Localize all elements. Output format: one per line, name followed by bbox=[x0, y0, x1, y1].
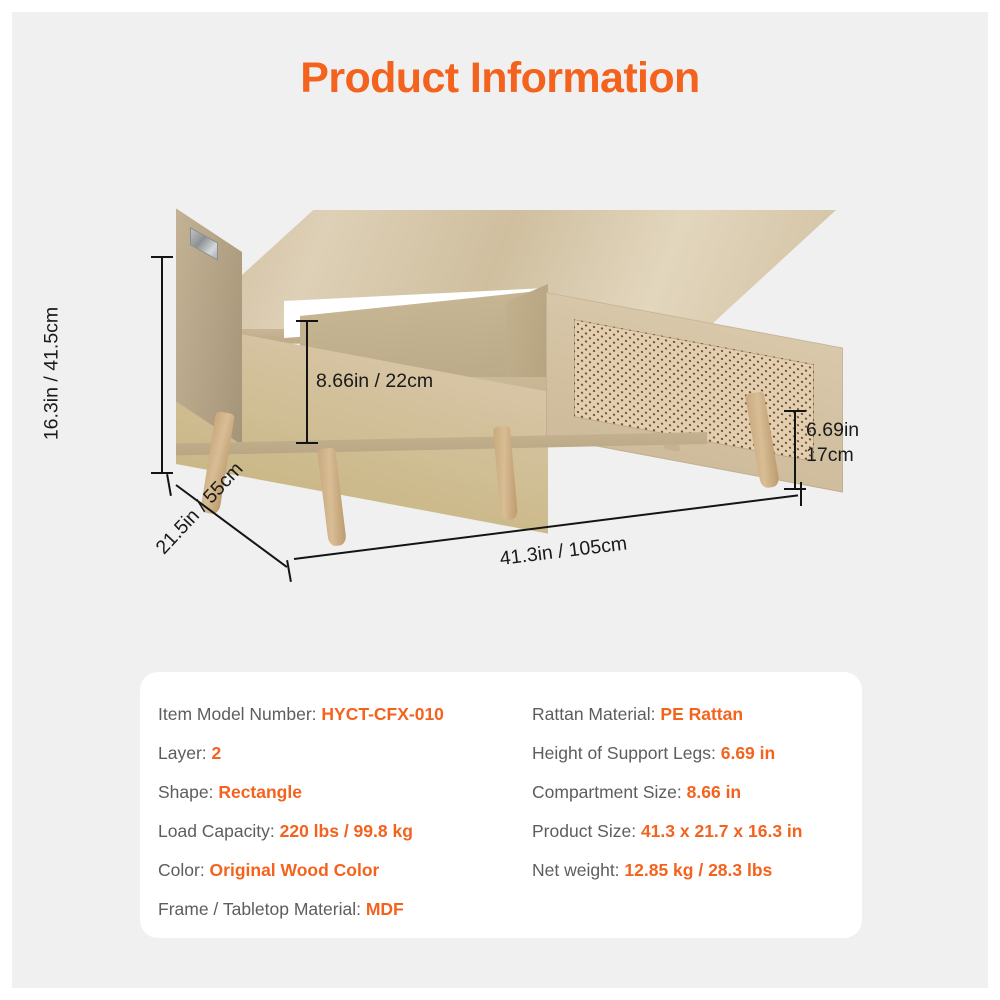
spec-value: 12.85 kg / 28.3 lbs bbox=[624, 860, 772, 880]
product-information-page: Product Information 16.3in / 41.5cm 8.66… bbox=[0, 0, 1000, 1000]
dimension-label-compartment-height: 8.66in / 22cm bbox=[316, 370, 433, 393]
spec-row: Load Capacity: 220 lbs / 99.8 kg bbox=[158, 811, 538, 850]
spec-value: 220 lbs / 99.8 kg bbox=[280, 821, 413, 841]
dimension-label-leg-height-cm: 17cm bbox=[806, 444, 854, 467]
dimension-line-compartment-height bbox=[306, 320, 308, 444]
spec-row: Shape: Rectangle bbox=[158, 772, 538, 811]
spec-value: 8.66 in bbox=[687, 782, 741, 802]
spec-value: 6.69 in bbox=[721, 743, 775, 763]
dimension-line-overall-height bbox=[161, 256, 163, 474]
spec-row: Item Model Number: HYCT-CFX-010 bbox=[158, 694, 538, 733]
dimension-cap-end bbox=[800, 482, 802, 506]
spec-label: Color: bbox=[158, 860, 210, 880]
spec-row: Rattan Material: PE Rattan bbox=[532, 694, 862, 733]
spec-row: Frame / Tabletop Material: MDF bbox=[158, 889, 538, 928]
spec-label: Shape: bbox=[158, 782, 218, 802]
spec-label: Layer: bbox=[158, 743, 212, 763]
spec-row: Layer: 2 bbox=[158, 733, 538, 772]
dimension-cap-top bbox=[296, 320, 318, 322]
spec-value: Rectangle bbox=[218, 782, 302, 802]
spec-row: Color: Original Wood Color bbox=[158, 850, 538, 889]
spec-label: Rattan Material: bbox=[532, 704, 660, 724]
product-illustration bbox=[0, 180, 1000, 640]
spec-label: Height of Support Legs: bbox=[532, 743, 721, 763]
dimension-line-leg-height bbox=[794, 410, 796, 490]
spec-column-left: Item Model Number: HYCT-CFX-010Layer: 2S… bbox=[158, 694, 538, 928]
spec-row: Net weight: 12.85 kg / 28.3 lbs bbox=[532, 850, 862, 889]
spec-value: 2 bbox=[212, 743, 222, 763]
spec-row: Product Size: 41.3 x 21.7 x 16.3 in bbox=[532, 811, 862, 850]
spec-label: Item Model Number: bbox=[158, 704, 321, 724]
spec-row: Height of Support Legs: 6.69 in bbox=[532, 733, 862, 772]
spec-value: MDF bbox=[366, 899, 404, 919]
dimension-cap-top bbox=[784, 410, 806, 412]
spec-row: Compartment Size: 8.66 in bbox=[532, 772, 862, 811]
spec-value: PE Rattan bbox=[660, 704, 743, 724]
rattan-door bbox=[546, 292, 843, 493]
specification-card: Item Model Number: HYCT-CFX-010Layer: 2S… bbox=[140, 672, 862, 938]
spec-label: Load Capacity: bbox=[158, 821, 280, 841]
spec-label: Product Size: bbox=[532, 821, 641, 841]
spec-value: Original Wood Color bbox=[210, 860, 380, 880]
dimension-label-leg-height-inches: 6.69in bbox=[806, 419, 859, 442]
spec-label: Compartment Size: bbox=[532, 782, 687, 802]
dimension-cap-bottom bbox=[151, 472, 173, 474]
dimension-cap-bottom bbox=[296, 442, 318, 444]
dimension-cap-top bbox=[151, 256, 173, 258]
spec-value: HYCT-CFX-010 bbox=[321, 704, 444, 724]
page-title: Product Information bbox=[0, 54, 1000, 103]
dimension-cap-bottom bbox=[784, 488, 806, 490]
spec-label: Frame / Tabletop Material: bbox=[158, 899, 366, 919]
spec-label: Net weight: bbox=[532, 860, 624, 880]
spec-column-right: Rattan Material: PE RattanHeight of Supp… bbox=[532, 694, 862, 889]
spec-value: 41.3 x 21.7 x 16.3 in bbox=[641, 821, 803, 841]
dimension-label-overall-height: 16.3in / 41.5cm bbox=[41, 264, 64, 484]
